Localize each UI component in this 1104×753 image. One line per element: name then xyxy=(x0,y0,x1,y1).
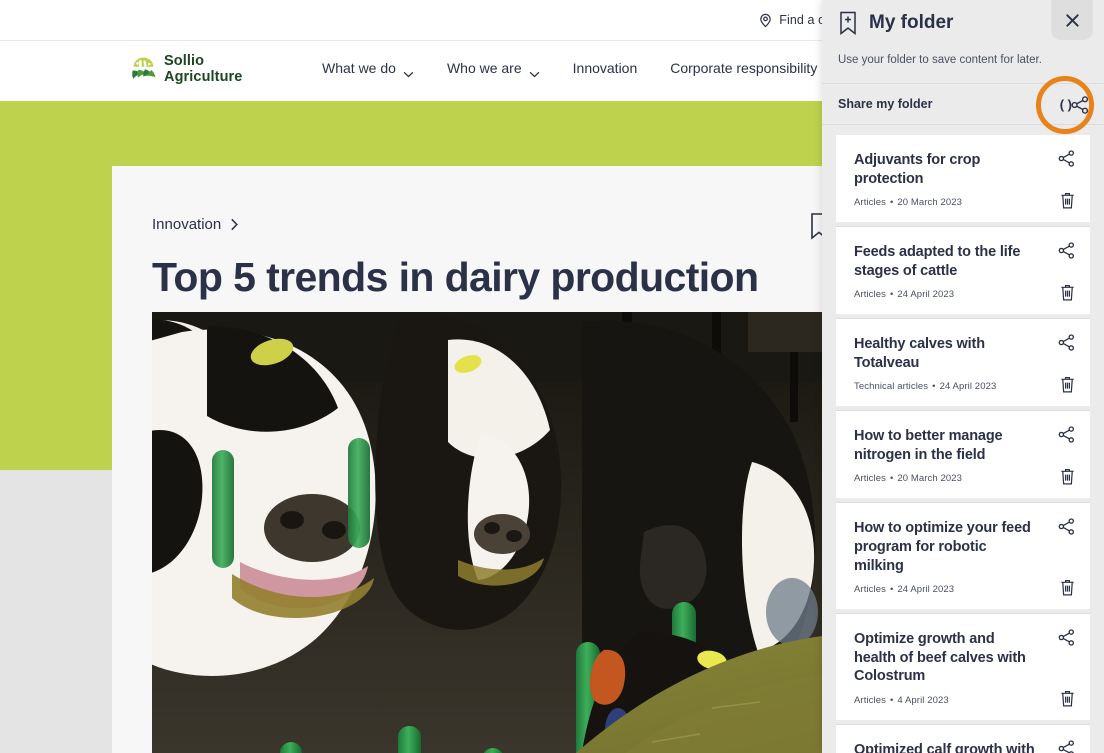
trash-icon[interactable] xyxy=(1059,689,1076,708)
list-item[interactable]: Feeds adapted to the life stages of catt… xyxy=(836,227,1090,314)
trash-icon[interactable] xyxy=(1059,578,1076,597)
nav-item-innovation[interactable]: Innovation xyxy=(573,60,655,76)
list-item[interactable]: Healthy calves with Totalveau Technical … xyxy=(836,319,1090,406)
item-title: Optimize growth and health of beef calve… xyxy=(854,630,1038,686)
item-category: Articles xyxy=(854,695,886,706)
item-date: 24 April 2023 xyxy=(897,584,954,595)
chevron-down-icon xyxy=(529,65,540,72)
breadcrumb[interactable]: Innovation xyxy=(152,216,239,233)
trash-icon[interactable] xyxy=(1059,375,1076,394)
panel-header: My folder xyxy=(822,0,1104,46)
close-panel-button[interactable] xyxy=(1051,0,1093,40)
item-category: Articles xyxy=(854,584,886,595)
item-category: Articles xyxy=(854,473,886,484)
nav-item-what-we-do[interactable]: What we do xyxy=(322,60,431,76)
item-title: Healthy calves with Totalveau xyxy=(854,335,1038,372)
sollio-leaf-logo-icon xyxy=(130,55,157,85)
share-icon[interactable] xyxy=(1057,517,1076,536)
bookmark-plus-icon xyxy=(838,11,858,35)
nav-item-label: What we do xyxy=(322,60,396,76)
item-date: 24 April 2023 xyxy=(940,381,997,392)
item-meta: Articles•20 March 2023 xyxy=(854,197,1038,208)
item-date: 4 April 2023 xyxy=(897,695,948,706)
item-date: 20 March 2023 xyxy=(897,473,962,484)
breadcrumb-label: Innovation xyxy=(152,216,221,233)
screenshot-root: Find a cooperative Province - Quebec FR xyxy=(0,0,1104,753)
item-date: 24 April 2023 xyxy=(897,289,954,300)
trash-icon[interactable] xyxy=(1059,283,1076,302)
item-category: Articles xyxy=(854,289,886,300)
item-meta: Articles•24 April 2023 xyxy=(854,584,1038,595)
item-category: Articles xyxy=(854,197,886,208)
location-pin-icon xyxy=(758,13,773,28)
share-icon[interactable] xyxy=(1057,149,1076,168)
share-folder-row: Share my folder ( ) xyxy=(822,83,1104,125)
item-meta: Articles•4 April 2023 xyxy=(854,695,1038,706)
logo-line-1: Sollio xyxy=(164,53,204,69)
nav-item-label: Who we are xyxy=(447,60,522,76)
page-title: Top 5 trends in dairy production xyxy=(152,254,758,301)
nav-item-label: Innovation xyxy=(573,60,638,76)
item-meta: Articles•20 March 2023 xyxy=(854,473,1038,484)
share-icon[interactable] xyxy=(1057,241,1076,260)
chevron-down-icon xyxy=(403,65,414,72)
my-folder-panel: My folder Use your folder to save conten… xyxy=(822,0,1104,753)
nav-item-who-we-are[interactable]: Who we are xyxy=(447,60,557,76)
list-item[interactable]: How to better manage nitrogen in the fie… xyxy=(836,411,1090,498)
item-meta: Technical articles•24 April 2023 xyxy=(854,381,1038,392)
item-title: Optimized calf growth with Goliath produ… xyxy=(854,741,1038,753)
list-item[interactable]: How to optimize your feed program for ro… xyxy=(836,503,1090,609)
list-item[interactable]: Optimize growth and health of beef calve… xyxy=(836,614,1090,720)
nav-item-label: Corporate responsibility xyxy=(670,60,817,76)
share-icon[interactable] xyxy=(1057,739,1076,753)
chevron-right-icon xyxy=(230,218,239,231)
close-icon xyxy=(1064,12,1081,29)
item-meta: Articles•24 April 2023 xyxy=(854,289,1038,300)
share-icon[interactable] xyxy=(1057,333,1076,352)
item-date: 20 March 2023 xyxy=(897,197,962,208)
saved-items-list: Adjuvants for crop protection Articles•2… xyxy=(822,125,1104,753)
item-title: How to optimize your feed program for ro… xyxy=(854,519,1038,575)
nav-item-corporate-responsibility[interactable]: Corporate responsibility xyxy=(670,60,834,76)
share-icon[interactable] xyxy=(1057,425,1076,444)
article-hero-image xyxy=(152,312,840,753)
item-title: Feeds adapted to the life stages of catt… xyxy=(854,243,1038,280)
share-folder-button[interactable] xyxy=(1070,95,1090,115)
site-logo-text: Sollio Agriculture xyxy=(164,54,242,85)
panel-subtitle: Use your folder to save content for late… xyxy=(822,46,1104,68)
list-item[interactable]: Optimized calf growth with Goliath produ… xyxy=(836,725,1090,753)
item-title: Adjuvants for crop protection xyxy=(854,151,1038,188)
share-folder-label: Share my folder xyxy=(838,97,932,111)
share-icon[interactable] xyxy=(1057,628,1076,647)
trash-icon[interactable] xyxy=(1059,191,1076,210)
trash-icon[interactable] xyxy=(1059,467,1076,486)
site-logo[interactable]: Sollio Agriculture xyxy=(130,54,242,85)
nav-links: What we do Who we are Innovation Corpora… xyxy=(322,60,834,76)
panel-title: My folder xyxy=(869,12,953,34)
list-item[interactable]: Adjuvants for crop protection Articles•2… xyxy=(836,135,1090,222)
logo-line-2: Agriculture xyxy=(164,70,242,86)
item-category: Technical articles xyxy=(854,381,928,392)
item-title: How to better manage nitrogen in the fie… xyxy=(854,427,1038,464)
